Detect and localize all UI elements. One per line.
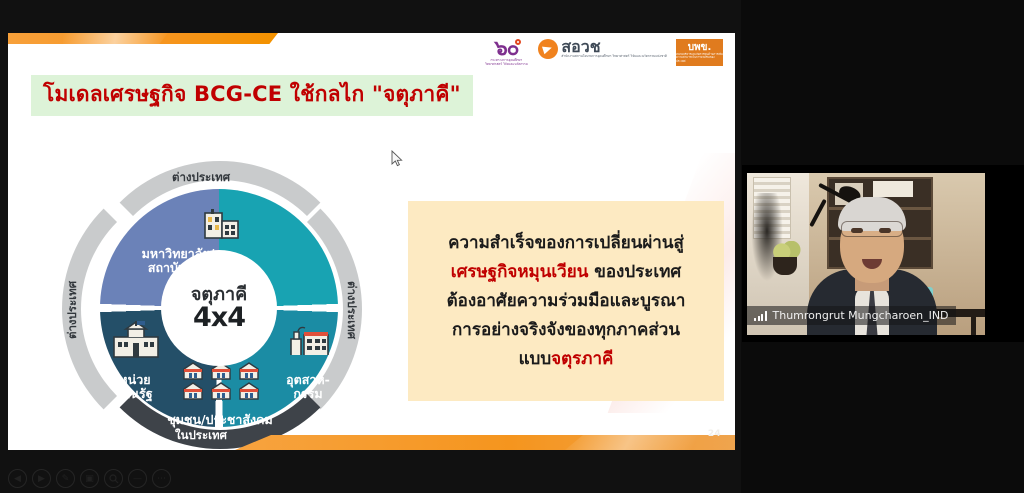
slide-logos: ๖๐ กระทรวงการอุดมศึกษา วิทยาศาสตร์ วิจัย… [483, 39, 723, 66]
callout-line-1: ความสำเร็จของการเปลี่ยนผ่านสู่ [448, 232, 684, 254]
screen-share-area: ๖๐ กระทรวงการอุดมศึกษา วิทยาศาสตร์ วิจัย… [0, 0, 741, 493]
quadrant-label-government: หน่วย งานรัฐ [117, 373, 152, 401]
mouse-cursor [391, 150, 403, 167]
slide-decor-top-skew [159, 33, 278, 44]
quadrant-label-industry: อุตสาห- กรรม [286, 373, 330, 401]
slide-page-number: 24 [708, 429, 721, 439]
laser-pointer-button[interactable]: ▣ [80, 469, 99, 488]
sovch-logo-caption: สำนักงานสภานโยบายการอุดมศึกษา วิทยาศาสตร… [561, 54, 667, 58]
next-slide-button[interactable]: ▶ [32, 469, 51, 488]
participant-name-label: Thumrongrut Mungcharoen_IND [773, 309, 949, 322]
callout-line-2: เศรษฐกิจหมุนเวียน ของประเทศ [451, 261, 681, 283]
participant-name-bar: Thumrongrut Mungcharoen_IND [747, 306, 956, 325]
diagram-center-hub: จตุภาคี 4x4 [166, 255, 272, 361]
slide-callout-box: ความสำเร็จของการเปลี่ยนผ่านสู่ เศรษฐกิจห… [408, 201, 724, 401]
callout-line-3: ต้องอาศัยความร่วมมือและบูรณา [447, 290, 686, 312]
participant-video-frame: Thumrongrut Mungcharoen_IND [747, 173, 985, 335]
diagram-label-bottom: ในประเทศ [175, 427, 227, 445]
university-building-icon [203, 209, 241, 239]
anniversary-60-caption: กระทรวงการอุดมศึกษา วิทยาศาสตร์ วิจัยและ… [483, 58, 529, 66]
presentation-slide[interactable]: ๖๐ กระทรวงการอุดมศึกษา วิทยาศาสตร์ วิจัย… [8, 33, 735, 450]
diagram-label-left: ต่างประเทศ [64, 281, 82, 339]
more-options-button[interactable]: ⋯ [152, 469, 171, 488]
screen-root: ๖๐ กระทรวงการอุดมศึกษา วิทยาศาสตร์ วิจัย… [0, 0, 1024, 493]
plant-pot [773, 257, 797, 275]
anniversary-60-logo: ๖๐ กระทรวงการอุดมศึกษา วิทยาศาสตร์ วิจัย… [483, 39, 529, 66]
bpk-logo: บพข. หน่วยบริหารและจัดการทุนด้านการเพิ่ม… [676, 39, 723, 66]
government-building-icon [112, 321, 160, 359]
callout-highlight-1: เศรษฐกิจหมุนเวียน [451, 262, 589, 282]
desk-leg-right [971, 315, 976, 335]
diagram-center-subtitle: 4x4 [193, 305, 245, 331]
callout-highlight-2: จตุรภาคี [551, 349, 613, 369]
callout-line-2-post: ของประเทศ [588, 262, 681, 282]
factory-icon [288, 325, 332, 357]
bpk-logo-caption: หน่วยบริหารและจัดการทุนด้านการเพิ่มความส… [676, 53, 723, 63]
participant-eye-left [851, 228, 863, 233]
signal-strength-icon [754, 311, 767, 321]
callout-line-4: การอย่างจริงจังของทุกภาคส่วน [452, 319, 680, 341]
shelf-niche-2 [873, 181, 913, 197]
quadrant-label-community: ชุมชน/ประชาสังคม [167, 413, 273, 427]
diagram-label-top: ต่างประเทศ [172, 169, 230, 187]
anniversary-60-glyph: ๖๐ [483, 39, 529, 57]
participant-eye-right [879, 228, 891, 233]
participant-video-tile[interactable]: Thumrongrut Mungcharoen_IND [742, 165, 1024, 342]
minimize-button[interactable]: — [128, 469, 147, 488]
sovch-arrow-icon [538, 39, 558, 59]
diagram-label-right: ต่างประเทศ [342, 281, 360, 339]
houses-icon [182, 361, 260, 401]
slide-decor-bottom-sheen [565, 435, 725, 450]
zoom-button[interactable] [104, 469, 123, 488]
sovch-logo-glyph: สอวช [561, 39, 667, 54]
prev-slide-button[interactable]: ◀ [8, 469, 27, 488]
slide-title: โมเดลเศรษฐกิจ BCG-CE ใช้กลไก "จตุภาคี" [31, 75, 473, 116]
pen-annotate-button[interactable]: ✎ [56, 469, 75, 488]
slide-player-toolbar[interactable]: ◀ ▶ ✎ ▣ — ⋯ [8, 469, 171, 488]
quadruple-helix-diagram: ต่างประเทศ ต่างประเทศ ต่างประเทศ ในประเท… [60, 161, 380, 450]
callout-line-5: แบบจตุรภาคี [519, 348, 614, 370]
sovch-logo: สอวช สำนักงานสภานโยบายการอุดมศึกษา วิทยา… [538, 39, 667, 59]
magnifier-icon [109, 474, 119, 484]
callout-line-5-pre: แบบ [519, 349, 552, 369]
